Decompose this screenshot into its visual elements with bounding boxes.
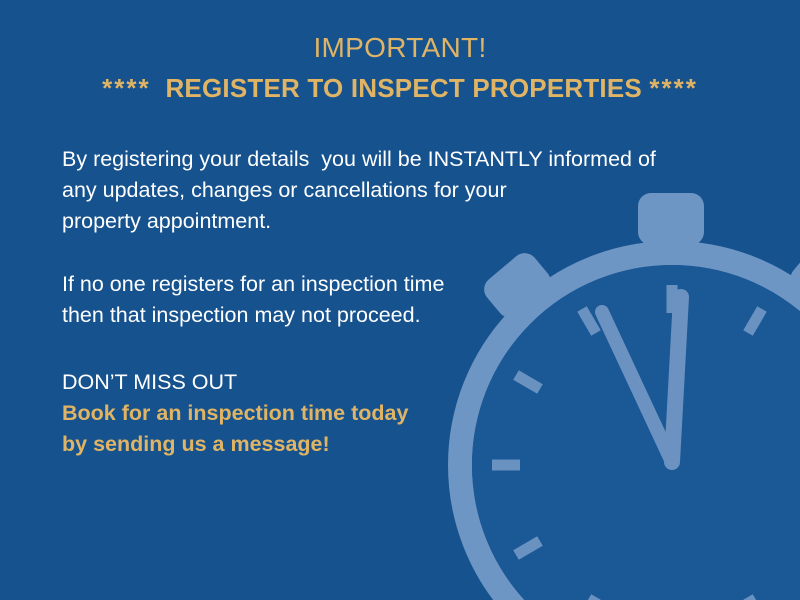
paragraph-line: any updates, changes or cancellations fo…	[62, 175, 722, 206]
stars-right: ****	[649, 73, 697, 103]
stars-left: ****	[102, 73, 150, 103]
cta-book-line: Book for an inspection time today	[62, 398, 722, 429]
call-to-action-block: DON’T MISS OUT Book for an inspection ti…	[62, 367, 722, 460]
paragraph-no-registration: If no one registers for an inspection ti…	[62, 269, 722, 331]
cta-headline: DON’T MISS OUT	[62, 367, 722, 398]
promotional-slide: IMPORTANT! **** REGISTER TO INSPECT PROP…	[0, 0, 800, 600]
paragraph-line: By registering your details you will be …	[62, 144, 722, 175]
stopwatch-lug-right-icon	[785, 245, 800, 320]
paragraph-line: property appointment.	[62, 206, 722, 237]
body-block: By registering your details you will be …	[62, 144, 722, 460]
page-subtitle: **** REGISTER TO INSPECT PROPERTIES ****	[0, 70, 800, 106]
paragraph-registering: By registering your details you will be …	[62, 144, 722, 237]
cta-message-line: by sending us a message!	[62, 429, 722, 460]
heading-block: IMPORTANT! **** REGISTER TO INSPECT PROP…	[0, 30, 800, 106]
page-title: IMPORTANT!	[0, 30, 800, 66]
paragraph-line: then that inspection may not proceed.	[62, 300, 722, 331]
paragraph-line: If no one registers for an inspection ti…	[62, 269, 722, 300]
heading-title-text: REGISTER TO INSPECT PROPERTIES	[165, 73, 642, 103]
